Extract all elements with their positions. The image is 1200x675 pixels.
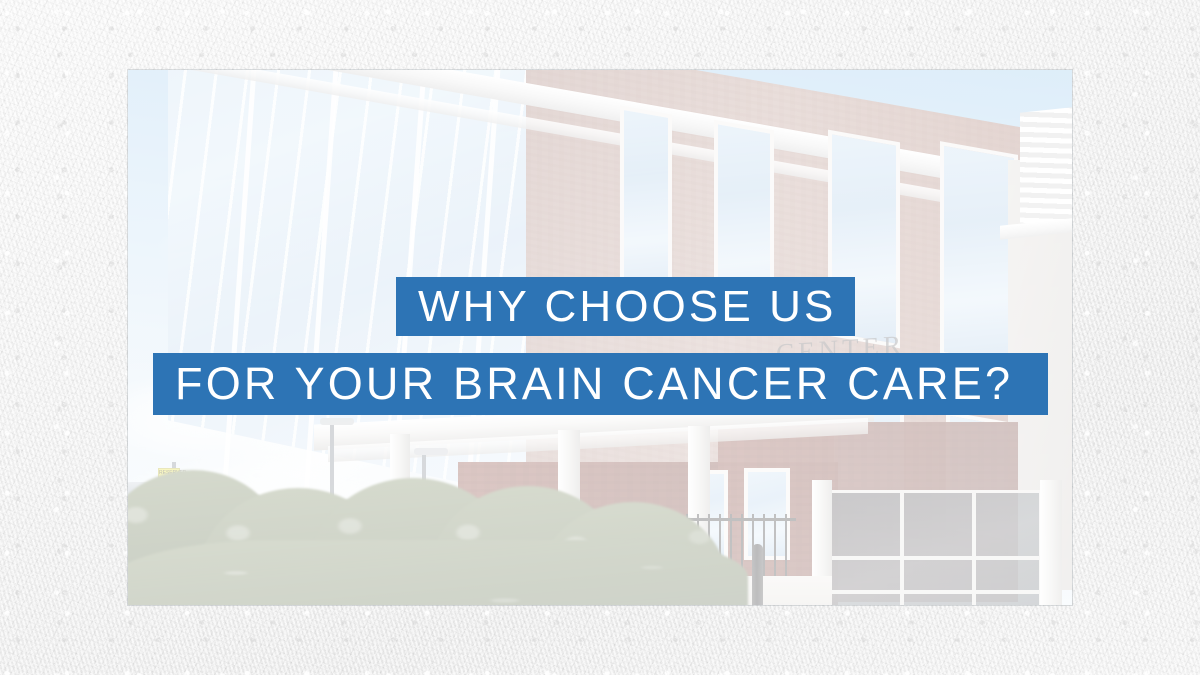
slide-canvas: CENTER <box>0 0 1200 675</box>
light-pole-head <box>414 448 448 455</box>
headline-band-line-2: FOR YOUR BRAIN CANCER CARE? <box>153 353 1048 415</box>
door-transom <box>828 590 1042 594</box>
headline-band-line-1: WHY CHOOSE US <box>396 277 855 336</box>
door-transom <box>828 556 1042 560</box>
entry-pier <box>1040 480 1062 605</box>
facade-window <box>620 105 672 300</box>
headline-line-2-text: FOR YOUR BRAIN CANCER CARE? <box>175 358 1013 410</box>
hero-photo: CENTER <box>128 70 1072 605</box>
facade-window <box>940 141 1018 369</box>
louver-screen <box>1020 103 1072 232</box>
door-mullion <box>900 490 904 605</box>
headline-line-1-text: WHY CHOOSE US <box>418 282 836 332</box>
light-pole-head <box>320 418 354 425</box>
door-mullion <box>972 490 976 605</box>
shrub <box>128 540 748 605</box>
bollard <box>752 544 763 605</box>
entrance-glass-doors <box>828 490 1042 605</box>
iron-fence-rail <box>686 518 796 521</box>
